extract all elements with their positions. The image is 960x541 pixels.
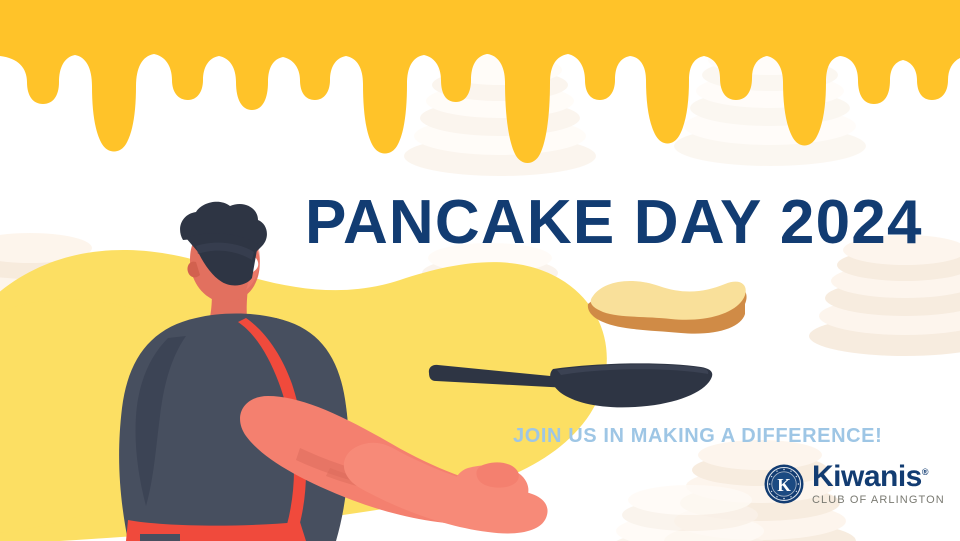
kiwanis-logo: K Kiwanis® CLUB OF ARLINGTON <box>764 462 945 506</box>
chef-hat-band <box>186 233 258 285</box>
pan-rim <box>557 364 708 375</box>
pan-handle <box>429 365 571 388</box>
flying-pancake <box>585 278 750 340</box>
chef-arm-shading <box>326 468 412 496</box>
chef-thumb <box>476 462 518 487</box>
chef-hat-puff <box>180 202 267 252</box>
kiwanis-name-text: Kiwanis <box>812 460 922 493</box>
syrup-drip-border <box>0 0 960 190</box>
chef-jacket-lapel <box>250 318 349 541</box>
chef-ear <box>187 262 200 278</box>
chef-apron-band <box>126 520 306 541</box>
kiwanis-name: Kiwanis® <box>812 462 928 492</box>
kiwanis-wordmark: Kiwanis® CLUB OF ARLINGTON <box>812 462 945 506</box>
chef-hat-crease <box>196 243 254 260</box>
pancake-day-poster: PANCAKE DAY 2024 JOIN US IN MAKING A DIF… <box>0 0 960 541</box>
pancake-stack-watermark <box>404 55 596 176</box>
chef-face-highlight <box>236 232 260 290</box>
chef-hand <box>454 465 528 511</box>
kiwanis-club-name: CLUB OF ARLINGTON <box>812 495 945 506</box>
chef-eye <box>214 237 232 241</box>
pancake-stack-watermark <box>674 45 866 166</box>
chef-jacket-crease <box>135 336 186 506</box>
pancake-stack-watermark <box>0 233 126 354</box>
chef-jacket-button <box>253 416 265 428</box>
registered-trademark-icon: ® <box>922 467 928 477</box>
chef-face <box>190 226 260 303</box>
tagline-text: JOIN US IN MAKING A DIFFERENCE! <box>513 426 882 446</box>
chef-arm <box>240 396 520 525</box>
chef-smile <box>225 252 259 274</box>
pancake-stack-watermark <box>594 485 786 541</box>
kiwanis-seal-letter: K <box>777 475 791 495</box>
chef-lapel-piping <box>238 318 306 541</box>
frying-pan <box>425 355 715 410</box>
chef-apron-notch <box>140 534 180 541</box>
chef-neck <box>204 288 250 334</box>
pan-body <box>550 363 712 407</box>
chef-arm-shading <box>296 448 404 492</box>
chef-forearm <box>344 443 548 534</box>
chef-jacket <box>119 314 348 541</box>
page-title: PANCAKE DAY 2024 <box>305 192 923 254</box>
pancake-stack-watermark <box>394 243 586 364</box>
kiwanis-seal-icon: K <box>764 464 804 504</box>
